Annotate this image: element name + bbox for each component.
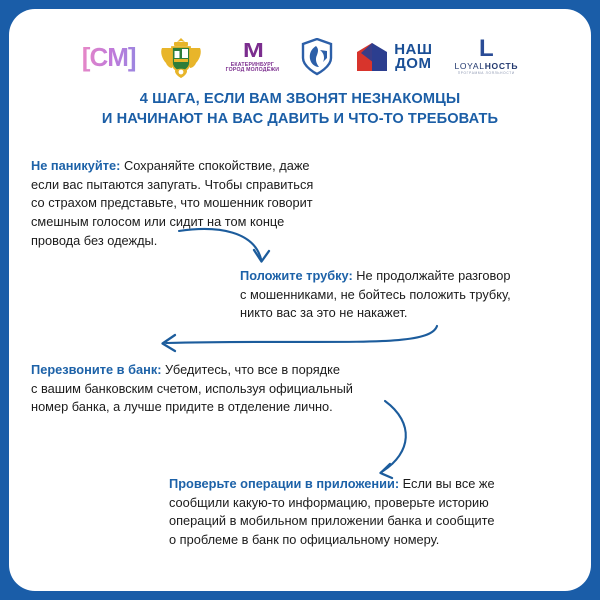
loyalnost-logo: L LOYALНОСТЬ ПРОГРАММА ЛОЯЛЬНОСТИ bbox=[454, 38, 518, 75]
step-2-line-2: с мошенниками, не бойтесь положить трубк… bbox=[240, 286, 511, 305]
shield-logo bbox=[301, 38, 333, 76]
step-1: Не паникуйте: Сохраняйте спокойствие, да… bbox=[31, 157, 313, 250]
ekaterinburg-coat-of-arms bbox=[158, 35, 204, 79]
step-1-text-1: Сохраняйте спокойствие, даже bbox=[120, 158, 309, 173]
step-3-line-1: Перезвоните в банк: Убедитесь, что все в… bbox=[31, 361, 353, 380]
step-4: Проверьте операции в приложении: Если вы… bbox=[169, 475, 495, 550]
cm-logo: [CM] bbox=[82, 42, 136, 72]
loyalnost-l-mark: L bbox=[479, 38, 494, 60]
step-1-heading: Не паникуйте: bbox=[31, 158, 120, 173]
step-4-text-1: Если вы все же bbox=[399, 476, 494, 491]
arrow-step2-to-step3 bbox=[163, 326, 438, 351]
page-title: 4 ШАГА, ЕСЛИ ВАМ ЗВОНЯТ НЕЗНАКОМЦЫ И НАЧ… bbox=[9, 89, 591, 129]
step-2-heading: Положите трубку: bbox=[240, 268, 353, 283]
ekb-line2: ГОРОД МОЛОДЁЖИ bbox=[226, 68, 280, 73]
nash-dom-text: НАШ ДОМ bbox=[394, 43, 432, 71]
step-1-line-5: провода без одежды. bbox=[31, 232, 313, 251]
loyalnost-tagline: ПРОГРАММА ЛОЯЛЬНОСТИ bbox=[458, 72, 515, 75]
step-3-text-1: Убедитесь, что все в порядке bbox=[162, 362, 340, 377]
loyalnost-name: LOYALНОСТЬ bbox=[454, 62, 518, 71]
step-2-text-1: Не продолжайте разговор bbox=[353, 268, 511, 283]
step-4-line-1: Проверьте операции в приложении: Если вы… bbox=[169, 475, 495, 494]
cm-logo-text: [CM] bbox=[82, 42, 136, 72]
house-icon bbox=[355, 41, 389, 73]
shield-icon bbox=[301, 38, 333, 76]
step-2: Положите трубку: Не продолжайте разговор… bbox=[240, 267, 511, 323]
step-3-line-3: номер банка, а лучше придите в отделение… bbox=[31, 398, 353, 417]
step-4-line-4: о проблеме в банк по официальному номеру… bbox=[169, 531, 495, 550]
step-3-heading: Перезвоните в банк: bbox=[31, 362, 162, 377]
step-4-heading: Проверьте операции в приложении: bbox=[169, 476, 399, 491]
ekaterinburg-city-logo: M ЕКАТЕРИНБУРГ ГОРОД МОЛОДЁЖИ bbox=[226, 41, 280, 73]
coat-of-arms-icon bbox=[158, 35, 204, 79]
step-1-line-4: смешным голосом или сидит на том конце bbox=[31, 213, 313, 232]
step-2-line-1: Положите трубку: Не продолжайте разговор bbox=[240, 267, 511, 286]
arrow-step3-to-step4 bbox=[381, 401, 406, 478]
step-3-line-2: с вашим банковским счетом, используя офи… bbox=[31, 380, 353, 399]
step-1-line-1: Не паникуйте: Сохраняйте спокойствие, да… bbox=[31, 157, 313, 176]
page-title-line1: 4 ШАГА, ЕСЛИ ВАМ ЗВОНЯТ НЕЗНАКОМЦЫ bbox=[9, 89, 591, 109]
step-1-line-3: со страхом представьте, что мошенник гов… bbox=[31, 194, 313, 213]
page-title-line2: И НАЧИНАЮТ НА ВАС ДАВИТЬ И ЧТО-ТО ТРЕБОВ… bbox=[9, 109, 591, 129]
infographic-poster: [CM] M ЕКАТЕРИНБУРГ bbox=[0, 0, 600, 600]
step-1-line-2: если вас пытаются запугать. Чтобы справи… bbox=[31, 176, 313, 195]
nash-dom-line2: ДОМ bbox=[394, 57, 432, 71]
ekb-m-glyph: M bbox=[243, 41, 263, 61]
poster-card: [CM] M ЕКАТЕРИНБУРГ bbox=[9, 9, 591, 591]
step-3: Перезвоните в банк: Убедитесь, что все в… bbox=[31, 361, 353, 417]
logo-strip: [CM] M ЕКАТЕРИНБУРГ bbox=[9, 29, 591, 85]
loyalnost-name-a: LOYAL bbox=[454, 61, 484, 71]
loyalnost-name-b: НОСТЬ bbox=[485, 61, 518, 71]
step-4-line-3: операций в мобильном приложении банка и … bbox=[169, 512, 495, 531]
step-2-line-3: никто вас за это не накажет. bbox=[240, 304, 511, 323]
nash-dom-logo: НАШ ДОМ bbox=[355, 41, 432, 73]
step-4-line-2: сообщили какую-то информацию, проверьте … bbox=[169, 494, 495, 513]
